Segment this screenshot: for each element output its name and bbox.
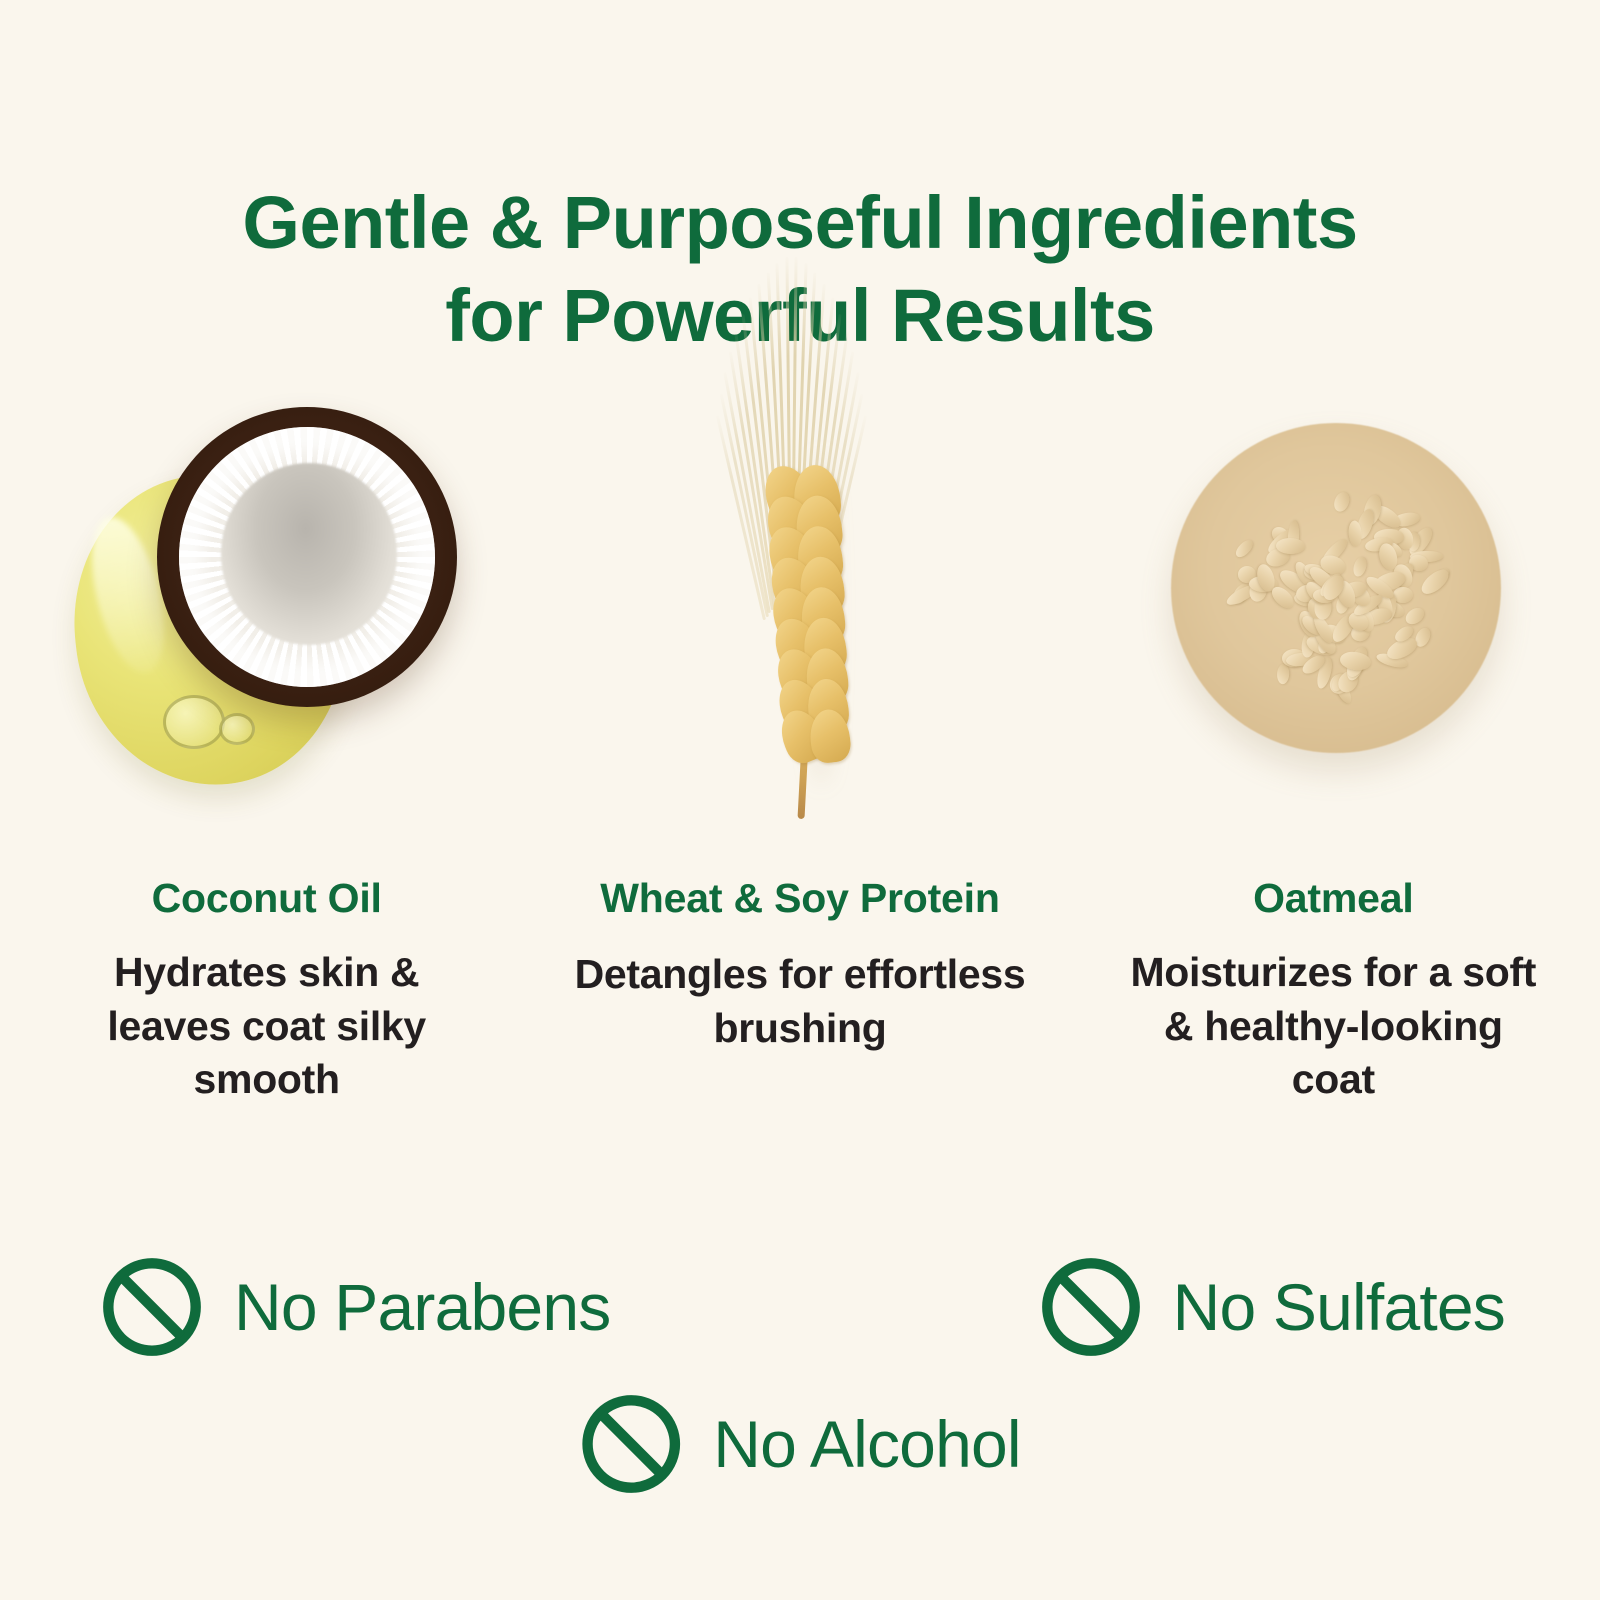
ingredient-card-coconut-oil: Coconut Oil Hydrates skin & leaves coat …	[0, 330, 533, 1106]
oat-flake	[1470, 688, 1489, 711]
oat-flake	[1126, 517, 1140, 548]
oat-flake	[1272, 758, 1287, 791]
oat-flake	[1144, 652, 1175, 684]
oat-flake	[1533, 546, 1565, 578]
oat-flake	[1276, 537, 1306, 553]
oat-flake	[1404, 415, 1429, 441]
claim-no-parabens: No Parabens	[100, 1255, 610, 1359]
oat-flake	[1231, 415, 1250, 450]
oat-flake	[1294, 768, 1318, 781]
no-symbol-icon	[579, 1392, 683, 1496]
oat-flake	[1146, 681, 1175, 714]
oat-flake	[1130, 642, 1156, 673]
oat-flake	[1191, 415, 1212, 443]
page-title-line-1: Gentle & Purposeful Ingredients	[60, 176, 1540, 269]
oat-flake	[1304, 392, 1338, 414]
ingredient-card-oatmeal: Oatmeal Moisturizes for a soft & healthy…	[1067, 330, 1600, 1106]
ingredient-columns: Coconut Oil Hydrates skin & leaves coat …	[0, 330, 1600, 1106]
ingredient-title: Oatmeal	[1253, 872, 1413, 924]
oat-flake	[1195, 727, 1207, 758]
ingredients-infographic: Gentle & Purposeful Ingredients for Powe…	[0, 0, 1600, 1600]
ingredient-description: Detangles for effortless brushing	[570, 948, 1030, 1055]
claim-label: No Sulfates	[1173, 1274, 1505, 1340]
ingredient-card-wheat-soy-protein: Wheat & Soy Protein Detangles for effort…	[533, 330, 1066, 1055]
oat-flake	[1365, 354, 1387, 382]
oat-flake	[1124, 651, 1155, 685]
claim-label: No Parabens	[234, 1274, 610, 1340]
claims-row-bottom: No Alcohol	[579, 1392, 1021, 1496]
coconut-oil-icon	[67, 395, 467, 795]
oat-flake	[1423, 400, 1455, 435]
wheat-stalk-icon	[650, 345, 950, 845]
claim-label: No Alcohol	[713, 1411, 1021, 1477]
oil-bubble	[163, 695, 225, 749]
oat-flake	[1400, 762, 1423, 790]
coconut-half	[157, 407, 457, 707]
oil-bubble	[219, 713, 255, 745]
oat-flake	[1203, 431, 1233, 460]
oatmeal-pile-icon	[1113, 385, 1553, 805]
oat-flake	[1241, 396, 1263, 428]
oat-flake	[1478, 739, 1501, 754]
oat-flake	[1517, 580, 1551, 600]
ingredient-title: Wheat & Soy Protein	[600, 872, 999, 924]
oat-flake	[1139, 657, 1155, 690]
coconut-cavity	[221, 463, 397, 645]
oat-flake	[1491, 486, 1522, 508]
no-symbol-icon	[100, 1255, 204, 1359]
oat-flake	[1251, 762, 1279, 783]
oatmeal-art	[1067, 330, 1600, 860]
ingredient-description: Moisturizes for a soft & healthy-looking…	[1118, 946, 1548, 1106]
oat-flake	[1506, 562, 1532, 590]
claims-row-top: No Parabens No Sulfates	[0, 1255, 1600, 1359]
coconut-oil-art	[0, 330, 533, 860]
ingredient-title: Coconut Oil	[152, 872, 382, 924]
oat-flake	[1284, 394, 1316, 408]
claim-no-sulfates: No Sulfates	[1039, 1255, 1505, 1359]
ingredient-description: Hydrates skin & leaves coat silky smooth	[67, 946, 467, 1106]
oat-flake	[1520, 519, 1552, 555]
no-symbol-icon	[1039, 1255, 1143, 1359]
oat-flake	[1521, 638, 1553, 652]
claim-no-alcohol: No Alcohol	[579, 1392, 1021, 1496]
oat-flake	[1505, 633, 1530, 659]
wheat-art	[533, 330, 1066, 860]
